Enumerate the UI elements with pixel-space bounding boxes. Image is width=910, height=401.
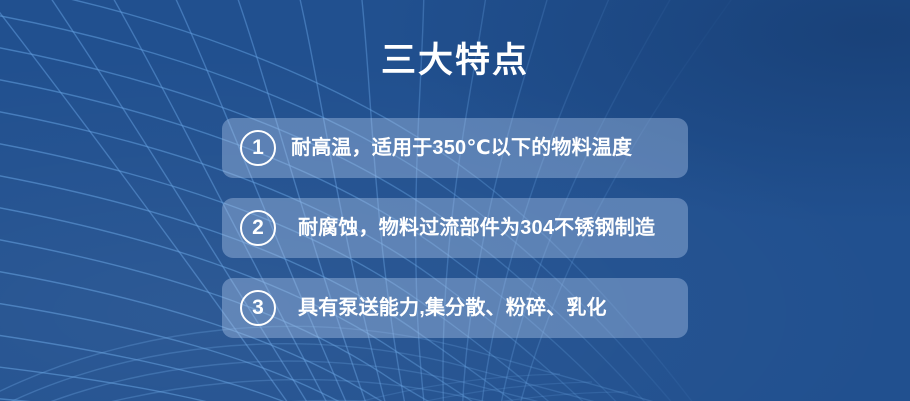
feature-row-1[interactable]: 1 耐高温，适用于350℃以下的物料温度 bbox=[222, 118, 688, 178]
feature-number-2: 2 bbox=[252, 217, 264, 238]
circled-number-icon-2: 2 bbox=[240, 210, 276, 246]
feature-text-2: 耐腐蚀，物料过流部件为304不锈钢制造 bbox=[298, 218, 655, 238]
circled-number-icon-1: 1 bbox=[240, 130, 276, 166]
feature-row-2[interactable]: 2 耐腐蚀，物料过流部件为304不锈钢制造 bbox=[222, 198, 688, 258]
circled-number-icon-3: 3 bbox=[240, 290, 276, 326]
feature-list: 1 耐高温，适用于350℃以下的物料温度 2 耐腐蚀，物料过流部件为304不锈钢… bbox=[222, 118, 688, 338]
feature-text-3: 具有泵送能力,集分散、粉碎、乳化 bbox=[298, 298, 607, 318]
feature-row-3[interactable]: 3 具有泵送能力,集分散、粉碎、乳化 bbox=[222, 278, 688, 338]
feature-number-1: 1 bbox=[252, 137, 264, 158]
feature-number-3: 3 bbox=[252, 297, 264, 318]
page-title: 三大特点 bbox=[0, 41, 910, 81]
feature-banner: 三大特点 1 耐高温，适用于350℃以下的物料温度 2 耐腐蚀，物料过流部件为3… bbox=[0, 0, 910, 401]
feature-text-1: 耐高温，适用于350℃以下的物料温度 bbox=[291, 138, 632, 158]
